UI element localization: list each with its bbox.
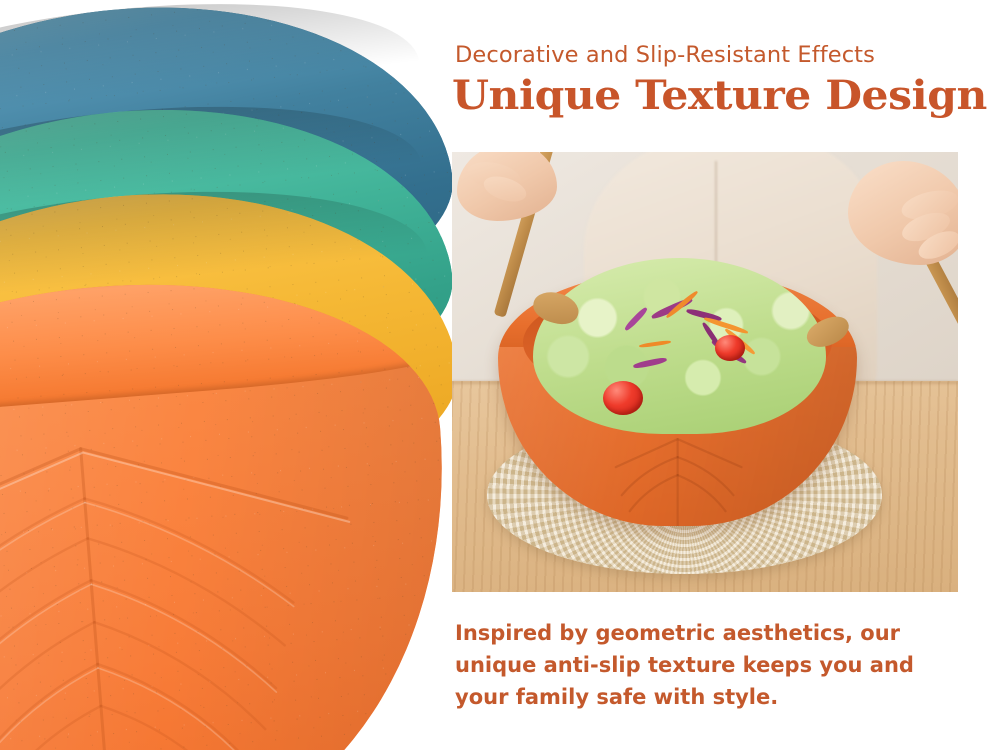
carrot-shred xyxy=(638,340,670,348)
lifestyle-photo xyxy=(452,152,958,592)
content-column: Decorative and Slip-Resistant Effects Un… xyxy=(452,0,1000,750)
stacked-bowls-image xyxy=(0,0,452,750)
cherry-tomato xyxy=(603,381,643,415)
orange-bowl xyxy=(0,261,452,750)
purple-cabbage-shred xyxy=(632,356,667,369)
cherry-tomato xyxy=(715,335,745,361)
product-feature-banner: Decorative and Slip-Resistant Effects Un… xyxy=(0,0,1000,750)
eyebrow-text: Decorative and Slip-Resistant Effects xyxy=(455,42,975,68)
page-title: Unique Texture Design xyxy=(452,74,1000,117)
body-description: Inspired by geometric aesthetics, our un… xyxy=(455,618,965,714)
purple-cabbage-shred xyxy=(623,306,648,332)
